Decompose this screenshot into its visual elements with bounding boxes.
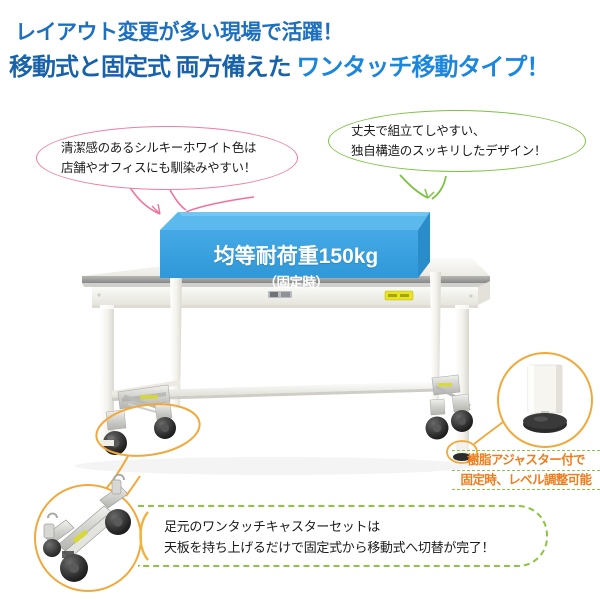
- speech-bubble-right-line-2: 独自構造のスッキリしたデザイン！: [351, 141, 585, 161]
- speech-bubble-right: 丈夫で組立てしやすい、 独自構造のスッキリしたデザイン！: [328, 110, 586, 172]
- adjuster-caption-line-2: 固定時、レベル調整可能: [452, 472, 600, 489]
- speech-bubble-bottom-line-1: 足元のワンタッチキャスターセットは: [164, 516, 494, 537]
- load-capacity-box-labels: 均等耐荷重150kg （固定時）: [148, 212, 444, 286]
- speech-bubble-right-line-1: 丈夫で組立てしやすい、: [351, 121, 585, 141]
- speech-bubble-bottom: 足元のワンタッチキャスターセットは 天板を持ち上げるだけで固定式から移動式へ切替…: [138, 505, 548, 567]
- adjuster-caption-line-1: 樹脂アジャスター付で: [452, 452, 600, 469]
- speech-bubble-bottom-lines: 足元のワンタッチキャスターセットは 天板を持ち上げるだけで固定式から移動式へ切替…: [164, 516, 494, 558]
- caster-set-inset: [35, 475, 141, 591]
- adjuster-caption-rule-middle: [452, 470, 600, 471]
- adjuster-caption-rule-bottom: [452, 489, 600, 490]
- speech-bubble-left: 清潔感のあるシルキーホワイト色は 店舗やオフィスにも馴染みやすい！: [36, 126, 298, 190]
- advertisement-canvas: レイアウト変更が多い現場で活躍！ 移動式と固定式 両方備えた ワンタッチ移動タイ…: [0, 0, 600, 600]
- adjuster-inset: [498, 353, 592, 447]
- adjuster-caption-rule-top: [452, 450, 600, 451]
- speech-bubble-left-line-1: 清潔感のあるシルキーホワイト色は: [61, 138, 297, 158]
- speech-bubble-bottom-line-2: 天板を持ち上げるだけで固定式から移動式へ切替が完了！: [164, 537, 494, 558]
- speech-bubble-left-line-2: 店舗やオフィスにも馴染みやすい！: [61, 158, 297, 178]
- load-capacity-value: 均等耐荷重150kg: [148, 240, 444, 270]
- adjuster-caption: 樹脂アジャスター付で 固定時、レベル調整可能: [452, 449, 600, 491]
- caster-set-inset-leader: [126, 476, 140, 496]
- bubble-tail-right: [400, 175, 446, 199]
